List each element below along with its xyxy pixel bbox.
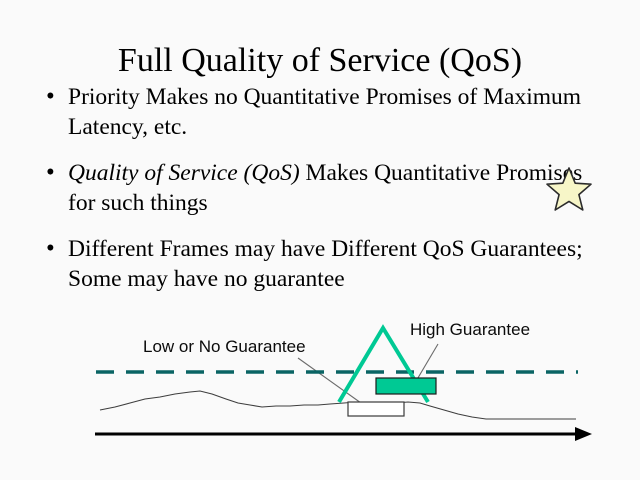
star-icon <box>545 166 593 212</box>
label-low-or-no-guarantee: Low or No Guarantee <box>143 337 306 357</box>
traffic-curve <box>100 391 576 419</box>
list-item-text: Quality of Service (QoS) Makes Quantitat… <box>68 158 594 218</box>
list-item-body: Priority Makes no Quantitative Promises … <box>68 84 581 140</box>
list-item-text: Priority Makes no Quantitative Promises … <box>68 82 594 142</box>
slide-canvas: Full Quality of Service (QoS) • Priority… <box>0 0 640 480</box>
high-guarantee-box <box>376 378 436 394</box>
list-item-text: Different Frames may have Different QoS … <box>68 234 594 294</box>
time-axis-arrowhead-icon <box>575 427 592 441</box>
list-item: • Quality of Service (QoS) Makes Quantit… <box>46 158 594 218</box>
list-item: • Different Frames may have Different Qo… <box>46 234 594 294</box>
qos-diagram <box>0 312 640 452</box>
list-item: • Priority Makes no Quantitative Promise… <box>46 82 594 142</box>
leader-line-low-guarantee <box>298 358 368 408</box>
list-item-body: Different Frames may have Different QoS … <box>68 236 583 292</box>
bullet-marker-icon: • <box>46 158 68 188</box>
bullet-marker-icon: • <box>46 234 68 264</box>
page-title: Full Quality of Service (QoS) <box>0 42 640 80</box>
bullet-list: • Priority Makes no Quantitative Promise… <box>46 82 594 305</box>
list-item-emphasis: Quality of Service (QoS) <box>68 160 300 186</box>
bullet-marker-icon: • <box>46 82 68 112</box>
low-guarantee-box <box>348 402 404 416</box>
label-high-guarantee: High Guarantee <box>410 320 530 340</box>
